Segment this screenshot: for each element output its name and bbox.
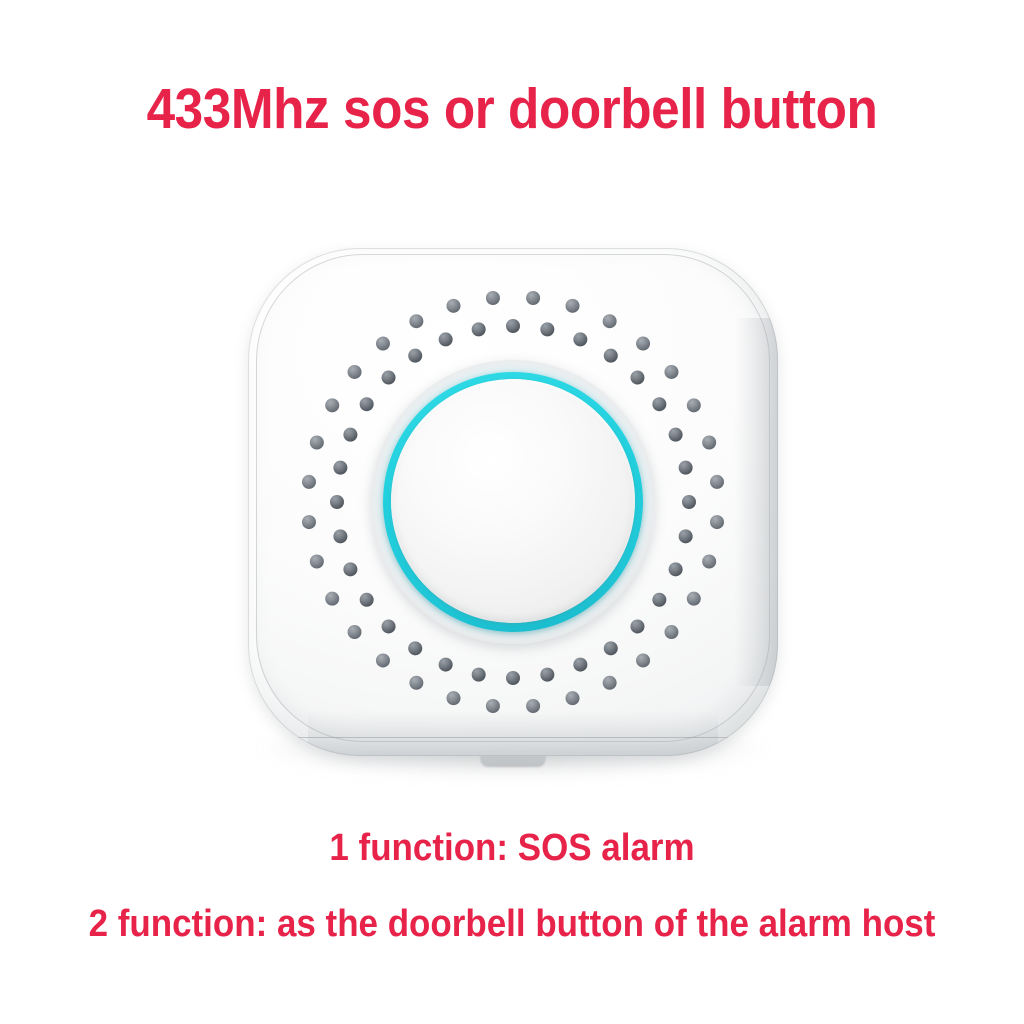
function-line-2: 2 function: as the doorbell button of th… bbox=[41, 902, 983, 946]
sos-press-button[interactable] bbox=[391, 379, 635, 623]
body-seam-line bbox=[262, 737, 764, 738]
product-photo bbox=[248, 248, 778, 780]
page-title: 433Mhz sos or doorbell button bbox=[51, 78, 973, 140]
function-line-1: 1 function: SOS alarm bbox=[41, 826, 983, 870]
product-listing-image: 433Mhz sos or doorbell button bbox=[0, 0, 1024, 1024]
